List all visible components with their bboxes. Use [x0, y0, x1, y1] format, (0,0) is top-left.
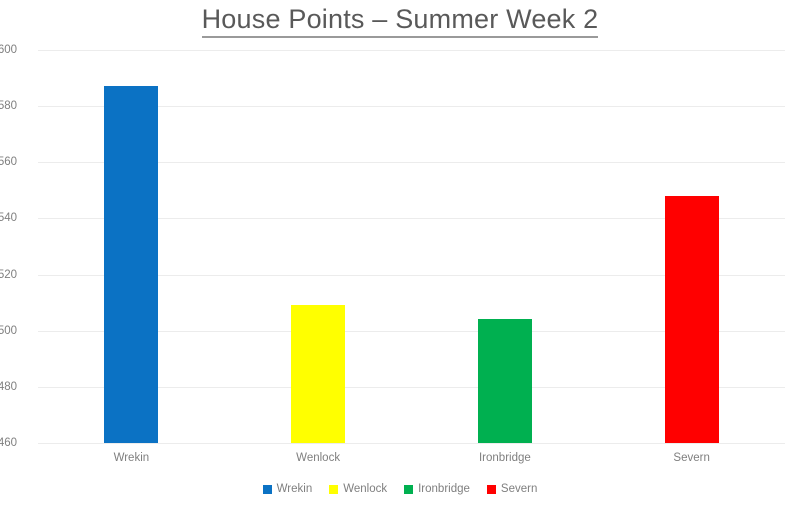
legend-swatch-icon: [487, 485, 496, 494]
gridline: [38, 50, 785, 51]
bar-wrekin[interactable]: [104, 86, 158, 443]
legend-item-wenlock[interactable]: Wenlock: [329, 483, 387, 495]
x-axis-label-wrekin: Wrekin: [114, 452, 150, 464]
y-axis-tick-label: 460: [0, 437, 17, 449]
legend-item-wrekin[interactable]: Wrekin: [263, 483, 313, 495]
y-axis-tick-label: 580: [0, 100, 17, 112]
bar-chart: House Points – Summer Week 2 60058056054…: [0, 0, 800, 509]
legend-swatch-icon: [404, 485, 413, 494]
legend-swatch-icon: [263, 485, 272, 494]
x-axis-label-wenlock: Wenlock: [296, 452, 340, 464]
plot-area: 600580560540520500480460: [38, 50, 785, 443]
y-axis-tick-label: 520: [0, 269, 17, 281]
legend-label: Wrekin: [277, 483, 313, 495]
x-axis-label-severn: Severn: [673, 452, 709, 464]
y-axis-tick-label: 540: [0, 212, 17, 224]
y-axis-tick-label: 560: [0, 156, 17, 168]
legend-label: Wenlock: [343, 483, 387, 495]
gridline: [38, 443, 785, 444]
y-axis-tick-label: 480: [0, 381, 17, 393]
y-axis-tick-label: 600: [0, 44, 17, 56]
bar-ironbridge[interactable]: [478, 319, 532, 443]
legend-item-ironbridge[interactable]: Ironbridge: [404, 483, 470, 495]
legend-swatch-icon: [329, 485, 338, 494]
legend-item-severn[interactable]: Severn: [487, 483, 537, 495]
y-axis-tick-label: 500: [0, 325, 17, 337]
x-axis-label-ironbridge: Ironbridge: [479, 452, 531, 464]
bar-severn[interactable]: [665, 196, 719, 443]
chart-title: House Points – Summer Week 2: [0, 4, 800, 38]
legend-label: Ironbridge: [418, 483, 470, 495]
chart-legend: WrekinWenlockIronbridgeSevern: [0, 483, 800, 495]
legend-label: Severn: [501, 483, 537, 495]
chart-title-text: House Points – Summer Week 2: [202, 4, 599, 38]
bar-wenlock[interactable]: [291, 305, 345, 443]
